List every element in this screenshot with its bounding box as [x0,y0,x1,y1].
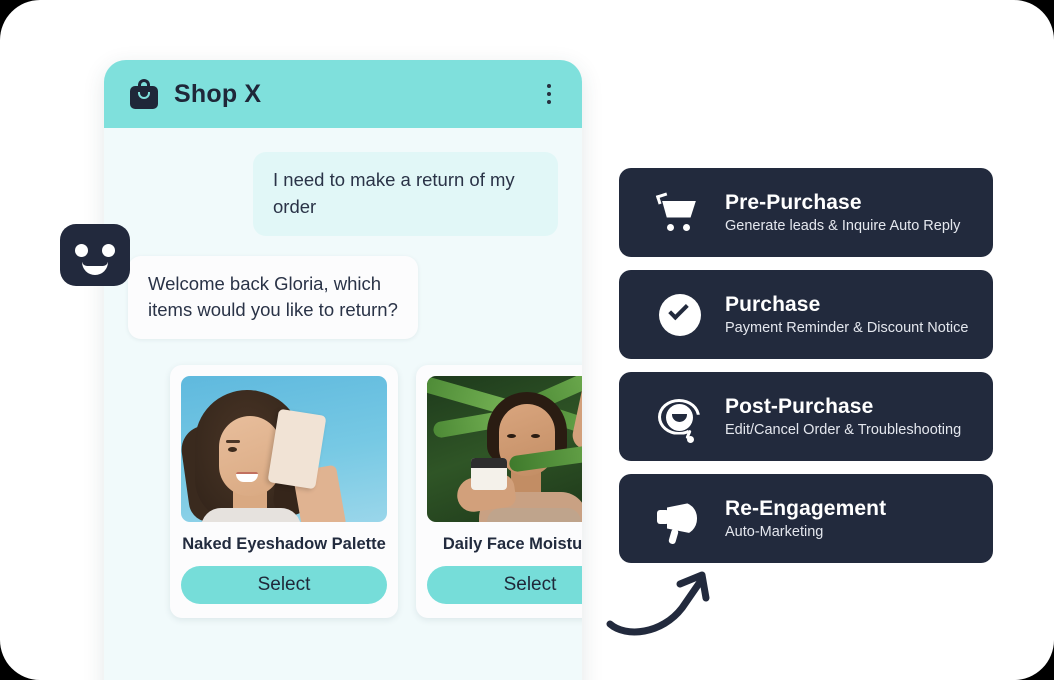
stage-title: Post-Purchase [725,395,961,419]
page-canvas: Shop X I need to make a return of my ord… [0,0,1054,680]
check-circle-icon [657,292,703,338]
robot-smile [82,262,108,275]
stage-card-purchase[interactable]: Purchase Payment Reminder & Discount Not… [619,270,993,359]
stage-subtitle: Payment Reminder & Discount Notice [725,320,968,336]
product-carousel[interactable]: Naked Eyeshadow Palette Select [128,365,558,618]
shopping-cart-icon [657,190,703,236]
shopping-bag-smile-icon [130,79,158,109]
stage-title: Re-Engagement [725,497,886,521]
robot-eye-left [75,244,88,257]
support-headset-icon [657,394,703,440]
chat-message-list: I need to make a return of my order Welc… [104,128,582,618]
curved-arrow-up-icon [600,562,730,642]
select-button[interactable]: Select [181,566,387,604]
chat-widget-panel: Shop X I need to make a return of my ord… [104,60,582,680]
product-card[interactable]: Daily Face Moisturizer Select [416,365,582,618]
stage-title: Purchase [725,293,968,317]
stage-subtitle: Generate leads & Inquire Auto Reply [725,218,960,234]
chat-bubble-bot: Welcome back Gloria, which items would y… [128,256,418,340]
product-name: Daily Face Moisturizer [427,535,582,554]
stage-subtitle: Auto-Marketing [725,524,886,540]
stage-card-re-engagement[interactable]: Re-Engagement Auto-Marketing [619,474,993,563]
robot-face-icon [60,224,130,286]
chat-header: Shop X [104,60,582,128]
kebab-menu-icon[interactable] [540,78,558,110]
stage-title: Pre-Purchase [725,191,960,215]
stage-card-post-purchase[interactable]: Post-Purchase Edit/Cancel Order & Troubl… [619,372,993,461]
product-image [181,376,387,522]
chat-bubble-user: I need to make a return of my order [253,152,558,236]
robot-eye-right [102,244,115,257]
product-name: Naked Eyeshadow Palette [181,535,387,554]
product-card[interactable]: Naked Eyeshadow Palette Select [170,365,398,618]
stage-subtitle: Edit/Cancel Order & Troubleshooting [725,422,961,438]
select-button[interactable]: Select [427,566,582,604]
megaphone-icon [657,496,703,542]
stage-card-pre-purchase[interactable]: Pre-Purchase Generate leads & Inquire Au… [619,168,993,257]
lifecycle-stage-list: Pre-Purchase Generate leads & Inquire Au… [619,168,993,563]
shop-title: Shop X [174,80,261,109]
product-image [427,376,582,522]
